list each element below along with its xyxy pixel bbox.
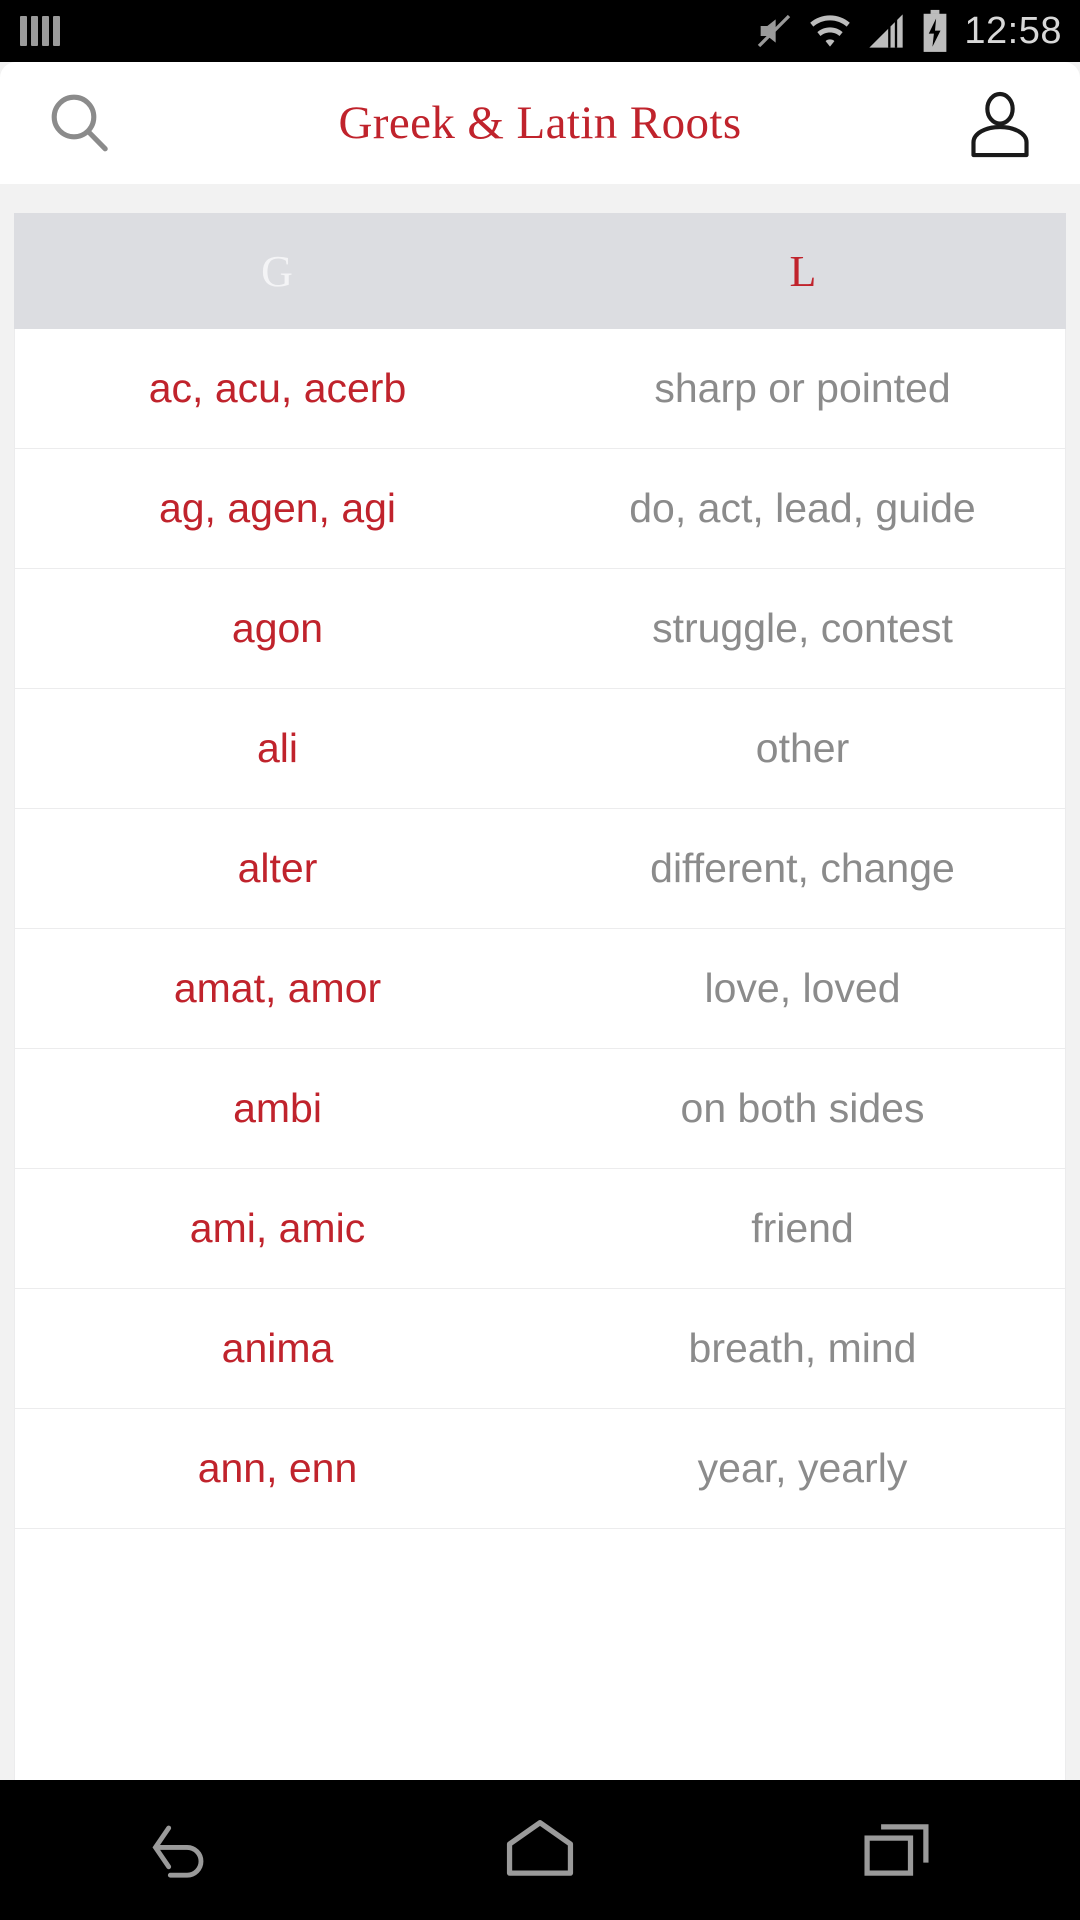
meaning-cell: year, yearly <box>540 1445 1065 1492</box>
meaning-cell: sharp or pointed <box>540 365 1065 412</box>
root-cell: alter <box>15 845 540 892</box>
tab-bar: G L <box>14 213 1066 329</box>
roots-list[interactable]: ac, acu, acerbsharp or pointedag, agen, … <box>14 329 1066 1780</box>
system-nav-bar <box>0 1780 1080 1920</box>
app-bar: Greek & Latin Roots <box>0 62 1080 184</box>
mute-icon <box>754 11 794 51</box>
meaning-cell: love, loved <box>540 965 1065 1012</box>
library-bars-icon <box>20 16 60 46</box>
status-bar-right: 12:58 <box>754 9 1062 53</box>
meaning-cell: on both sides <box>540 1085 1065 1132</box>
profile-button[interactable] <box>954 77 1046 169</box>
root-cell: anima <box>15 1325 540 1372</box>
search-icon <box>44 87 116 159</box>
recents-button[interactable] <box>810 1795 990 1905</box>
table-row[interactable]: ami, amicfriend <box>15 1169 1065 1289</box>
root-cell: ag, agen, agi <box>15 485 540 532</box>
meaning-cell: friend <box>540 1205 1065 1252</box>
tab-greek[interactable]: G <box>14 213 540 329</box>
table-row[interactable]: aliother <box>15 689 1065 809</box>
home-icon <box>498 1815 582 1885</box>
table-row[interactable]: ag, agen, agido, act, lead, guide <box>15 449 1065 569</box>
status-bar: 12:58 <box>0 0 1080 62</box>
meaning-cell: other <box>540 725 1065 772</box>
back-button[interactable] <box>90 1795 270 1905</box>
app-screen: 12:58 Greek & Latin Roots G L ac, acu, a… <box>0 0 1080 1920</box>
root-cell: ambi <box>15 1085 540 1132</box>
table-row[interactable]: agonstruggle, contest <box>15 569 1065 689</box>
table-row[interactable]: alterdifferent, change <box>15 809 1065 929</box>
root-cell: agon <box>15 605 540 652</box>
meaning-cell: do, act, lead, guide <box>540 485 1065 532</box>
root-cell: ac, acu, acerb <box>15 365 540 412</box>
table-row[interactable]: ac, acu, acerbsharp or pointed <box>15 329 1065 449</box>
search-button[interactable] <box>34 77 126 169</box>
root-cell: ann, enn <box>15 1445 540 1492</box>
table-row[interactable]: ann, ennyear, yearly <box>15 1409 1065 1529</box>
home-button[interactable] <box>450 1795 630 1905</box>
wifi-icon <box>808 11 852 51</box>
page-title: Greek & Latin Roots <box>126 96 954 150</box>
status-bar-left <box>20 16 60 46</box>
tab-latin[interactable]: L <box>540 213 1066 329</box>
meaning-cell: struggle, contest <box>540 605 1065 652</box>
status-bar-clock: 12:58 <box>964 10 1062 53</box>
recents-icon <box>858 1815 942 1885</box>
table-row[interactable]: animabreath, mind <box>15 1289 1065 1409</box>
root-cell: ami, amic <box>15 1205 540 1252</box>
table-row[interactable]: ambion both sides <box>15 1049 1065 1169</box>
meaning-cell: breath, mind <box>540 1325 1065 1372</box>
battery-charging-icon <box>920 9 950 53</box>
meaning-cell: different, change <box>540 845 1065 892</box>
profile-icon <box>963 86 1037 160</box>
root-cell: ali <box>15 725 540 772</box>
root-cell: amat, amor <box>15 965 540 1012</box>
table-row[interactable]: amat, amorlove, loved <box>15 929 1065 1049</box>
cellular-signal-icon <box>866 11 906 51</box>
back-icon <box>138 1815 222 1885</box>
